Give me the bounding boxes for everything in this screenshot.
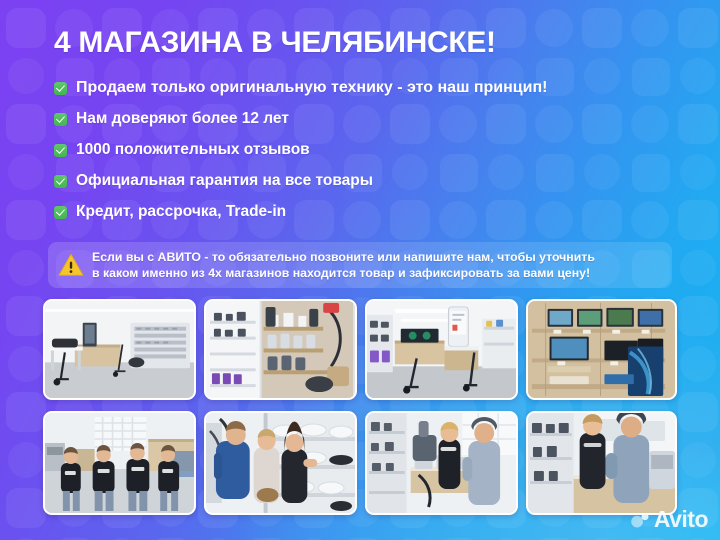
check-icon — [54, 144, 67, 157]
page-title: 4 МАГАЗИНА В ЧЕЛЯБИНСКЕ! — [54, 26, 496, 60]
warning-notice: Если вы с АВИТО - то обязательно позвони… — [48, 242, 672, 288]
avito-watermark: Avito — [630, 508, 708, 531]
warning-triangle-icon — [58, 252, 84, 278]
list-item: Продаем только оригинальную технику - эт… — [54, 79, 614, 97]
warning-line-2: в каком именно из 4х магазинов находится… — [92, 265, 595, 282]
list-item: Нам доверяют более 12 лет — [54, 110, 614, 128]
gallery-photo[interactable] — [204, 411, 357, 515]
list-item: Официальная гарантия на все товары — [54, 172, 614, 190]
check-icon — [54, 206, 67, 219]
list-item: Кредит, рассрочка, Trade-in — [54, 203, 614, 221]
gallery-photo[interactable] — [43, 411, 196, 515]
gallery-photo[interactable] — [526, 411, 677, 515]
photo-gallery — [43, 299, 677, 515]
list-item: 1000 положительных отзывов — [54, 141, 614, 159]
list-item-label: Продаем только оригинальную технику - эт… — [76, 79, 547, 97]
warning-line-1: Если вы с АВИТО - то обязательно позвони… — [92, 249, 595, 266]
gallery-photo[interactable] — [365, 299, 518, 400]
check-icon — [54, 175, 67, 188]
check-icon — [54, 82, 67, 95]
avito-logo-icon — [630, 510, 650, 530]
promo-banner: 4 МАГАЗИНА В ЧЕЛЯБИНСКЕ! Продаем только … — [0, 0, 720, 540]
gallery-photo[interactable] — [204, 299, 357, 400]
list-item-label: Официальная гарантия на все товары — [76, 172, 373, 190]
benefits-list: Продаем только оригинальную технику - эт… — [54, 79, 614, 221]
gallery-photo[interactable] — [365, 411, 518, 515]
warning-text: Если вы с АВИТО - то обязательно позвони… — [92, 249, 595, 282]
list-item-label: 1000 положительных отзывов — [76, 141, 310, 159]
check-icon — [54, 113, 67, 126]
list-item-label: Кредит, рассрочка, Trade-in — [76, 203, 286, 221]
gallery-photo[interactable] — [526, 299, 677, 400]
list-item-label: Нам доверяют более 12 лет — [76, 110, 289, 128]
gallery-photo[interactable] — [43, 299, 196, 400]
avito-logo-text: Avito — [654, 508, 708, 531]
